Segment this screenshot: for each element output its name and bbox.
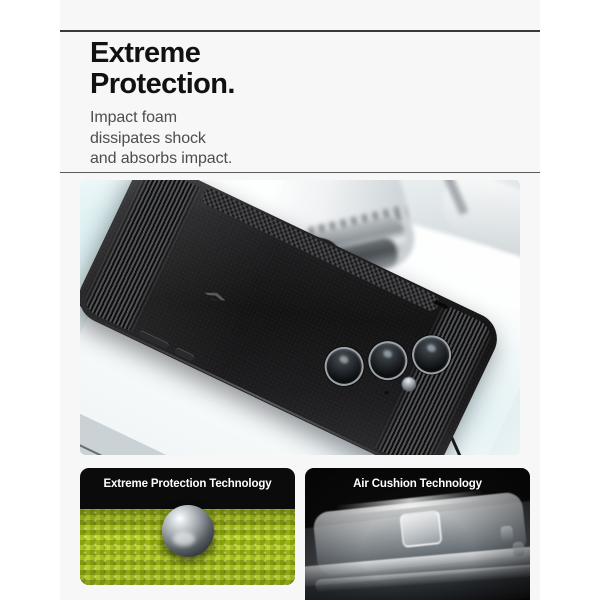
headline-block: Extreme Protection. Impact foam dissipat… [90,38,520,170]
subheadline-line-3: and absorbs impact. [90,149,520,169]
divider-top [60,30,540,32]
content-column: Extreme Protection. Impact foam dissipat… [60,0,540,600]
subheadline-line-1: Impact foam [90,108,520,128]
product-feature-page: Extreme Protection. Impact foam dissipat… [0,0,600,600]
feature-card-air-cushion: Air Cushion Technology [305,468,530,600]
steel-ball [162,505,214,557]
page-subtitle: Impact foam dissipates shock and absorbs… [90,108,520,169]
feature-card-extreme-protection: Extreme Protection Technology [80,468,295,585]
hero-image [80,180,520,455]
subheadline-line-2: dissipates shock [90,129,520,149]
headline-line-1: Extreme [90,38,520,69]
feature-card-caption: Air Cushion Technology [305,478,530,490]
divider-middle [60,172,540,173]
feature-card-caption: Extreme Protection Technology [80,478,295,490]
page-title: Extreme Protection. [90,38,520,99]
headline-line-2: Protection. [90,69,520,100]
